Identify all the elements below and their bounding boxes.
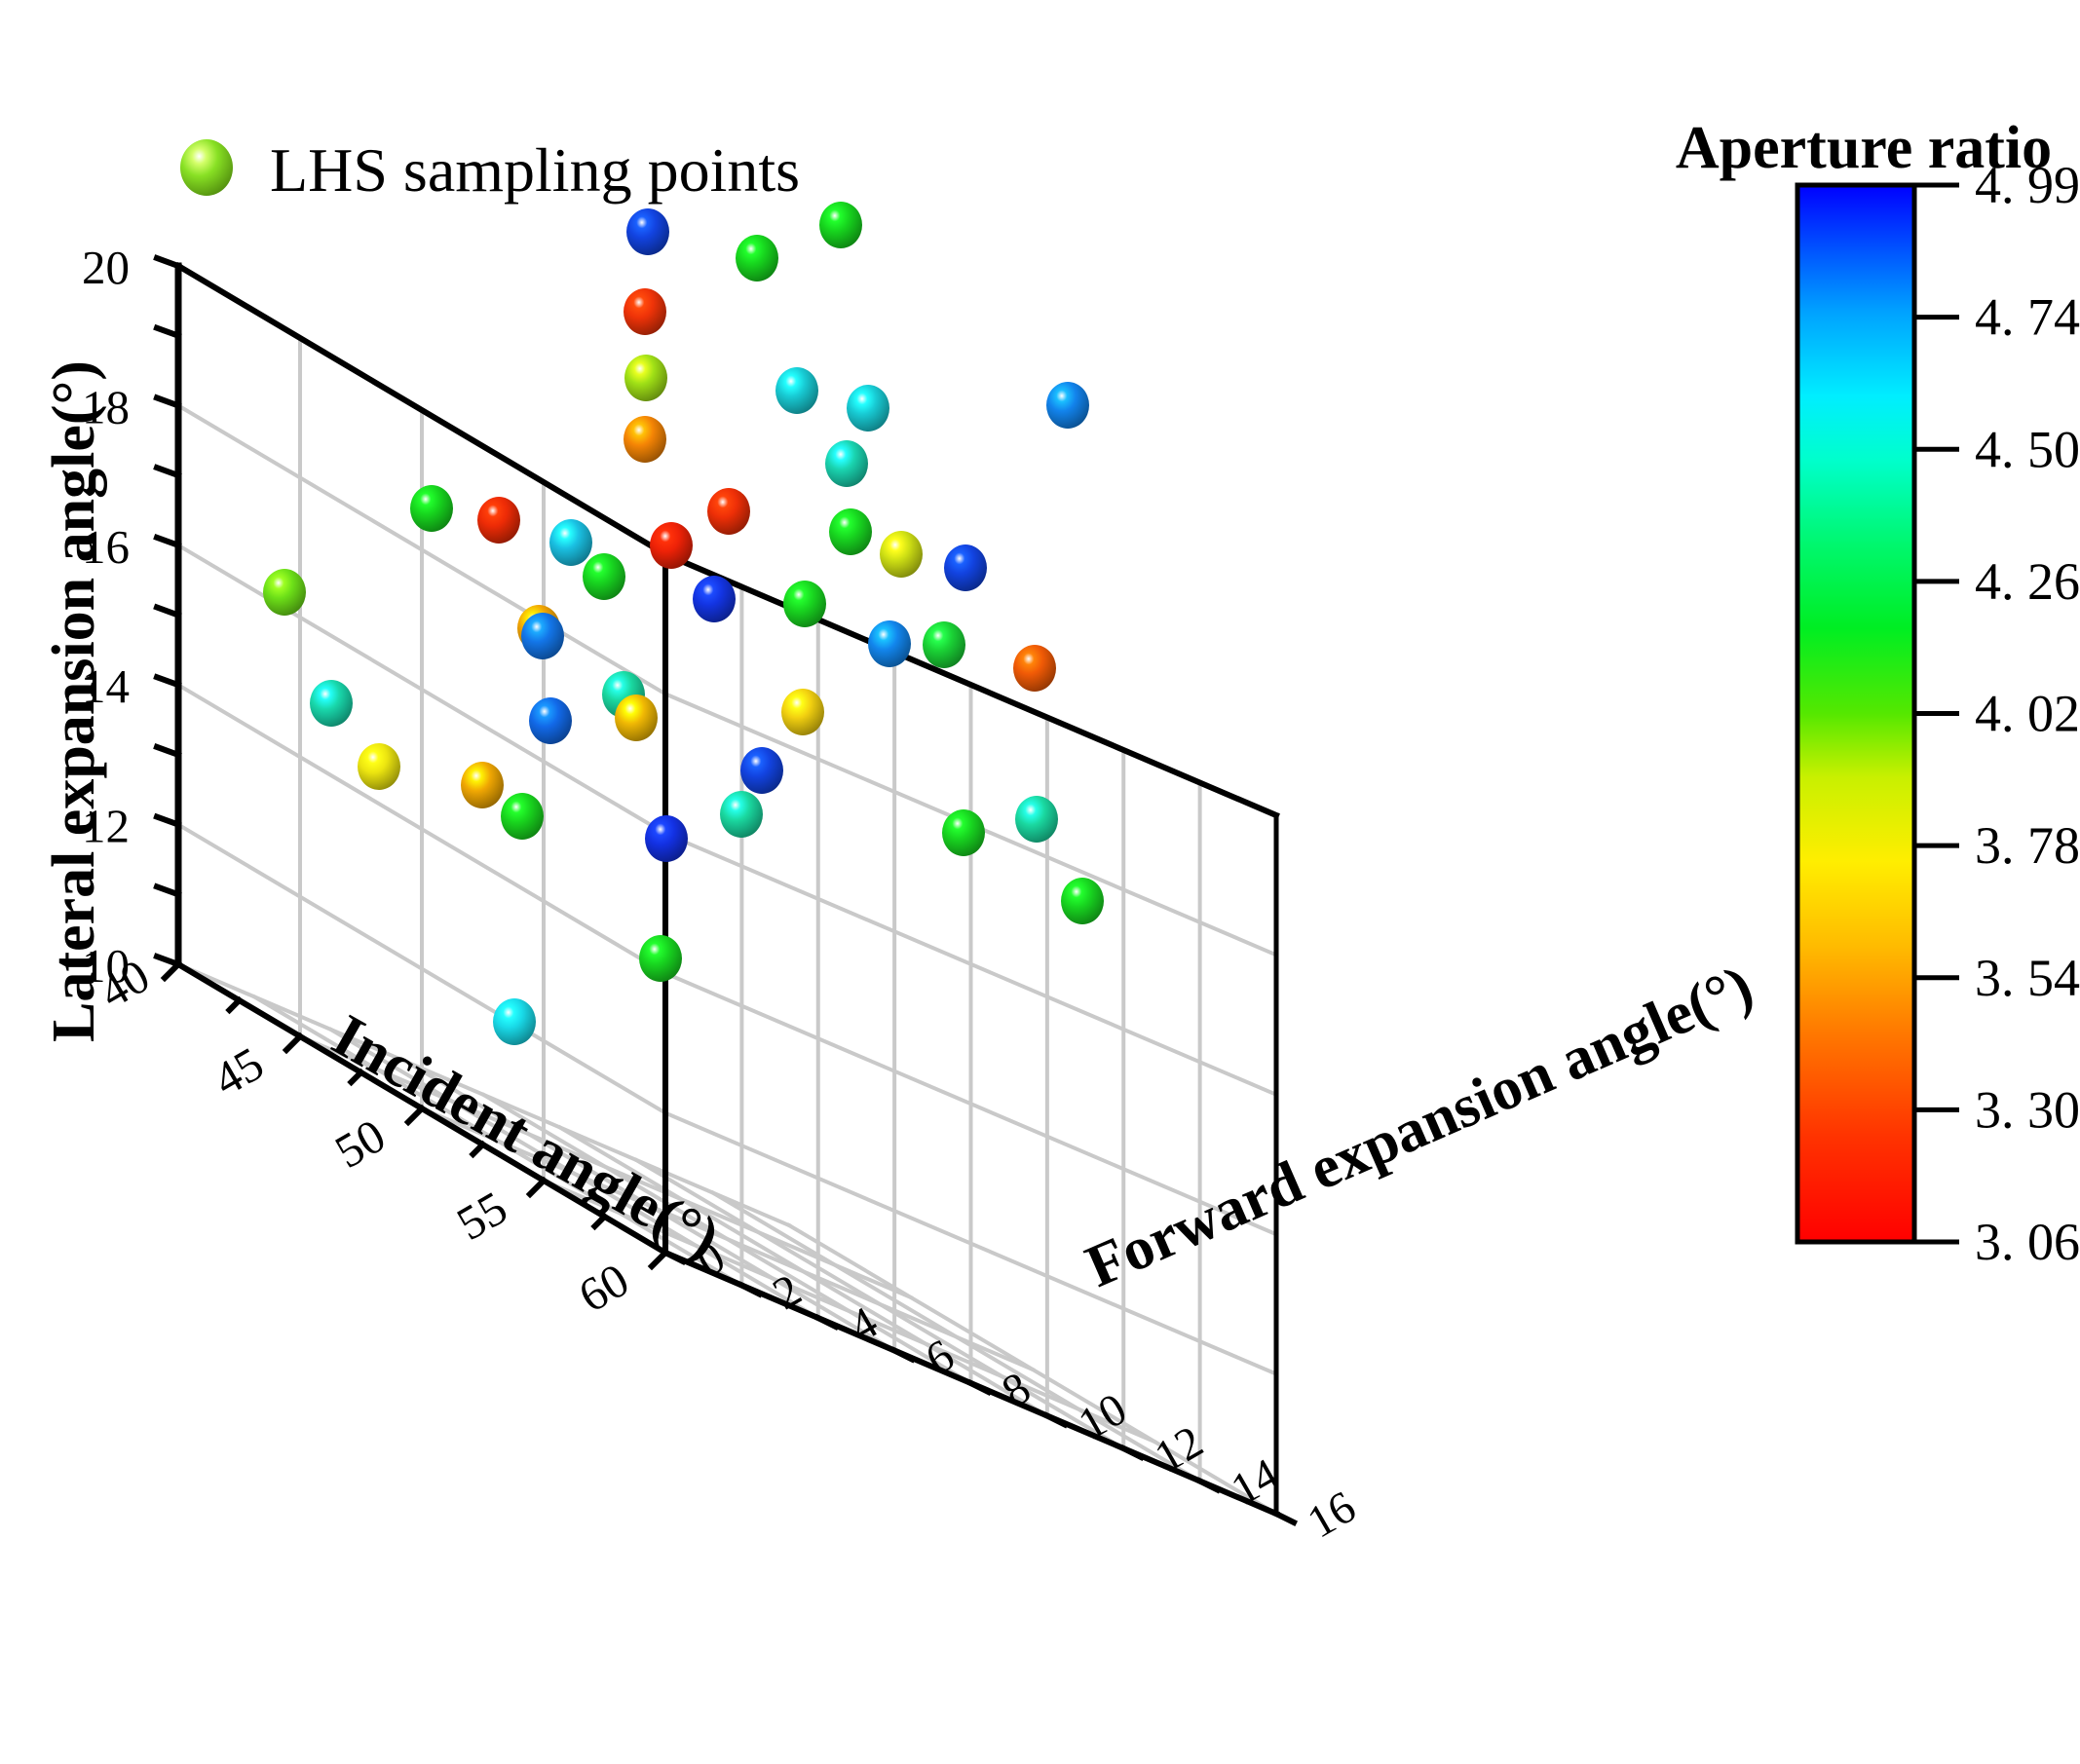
- data-point-sphere: [624, 416, 666, 463]
- scatter3d-figure: 10121416182040455055600246810121416 Late…: [0, 0, 2080, 1764]
- data-point-sphere: [501, 793, 544, 840]
- tick-label-x: 60: [570, 1253, 638, 1323]
- tick-x-minor: [230, 1000, 240, 1010]
- tick-y: [894, 1351, 912, 1360]
- tick-label-x: 50: [326, 1108, 395, 1179]
- colorbar-tick-label: 4. 990: [1975, 156, 2080, 214]
- data-point-sphere: [583, 553, 625, 600]
- data-point-sphere: [707, 488, 750, 535]
- tick-y: [1047, 1416, 1065, 1425]
- data-point-sphere: [358, 743, 400, 790]
- data-point-sphere: [615, 694, 658, 741]
- data-point-sphere: [1015, 796, 1058, 843]
- data-point-sphere: [624, 288, 666, 335]
- figure-root: 10121416182040455055600246810121416 Late…: [0, 0, 2080, 1764]
- data-point-sphere: [781, 689, 824, 735]
- colorbar-tick-label: 3. 301: [1975, 1080, 2080, 1139]
- tick-y: [741, 1286, 759, 1295]
- data-point-sphere: [549, 519, 592, 566]
- data-point-sphere: [1061, 878, 1104, 924]
- data-point-sphere: [645, 815, 688, 862]
- tick-y: [971, 1383, 989, 1392]
- data-point-sphere: [626, 208, 669, 255]
- tick-y: [1276, 1514, 1294, 1522]
- colorbar-gradient: [1797, 185, 1914, 1242]
- data-point-sphere: [461, 762, 504, 808]
- data-point-sphere: [942, 809, 985, 856]
- tick-y: [1200, 1482, 1218, 1490]
- colorbar-tick-label: 3. 060: [1975, 1213, 2080, 1271]
- data-point-sphere: [263, 569, 306, 616]
- tick-y: [818, 1318, 836, 1327]
- axis-frame: [178, 266, 1276, 1514]
- data-point-sphere: [493, 998, 536, 1045]
- data-point-sphere: [310, 680, 353, 727]
- data-point-sphere: [880, 531, 923, 578]
- data-point-sphere: [650, 522, 693, 569]
- colorbar: Aperture ratio4. 9904. 7494. 5084. 2664.…: [1676, 115, 2080, 1271]
- data-point-sphere: [775, 367, 818, 414]
- data-point-sphere: [923, 621, 965, 668]
- data-point-sphere: [740, 747, 783, 794]
- colorbar-tick-label: 4. 749: [1975, 288, 2080, 347]
- data-point-sphere: [868, 620, 911, 667]
- colorbar-tick-label: 4. 266: [1975, 552, 2080, 611]
- axis-title-y: Forward expansion angle(°): [1077, 953, 1762, 1300]
- data-point-sphere: [783, 581, 826, 627]
- data-point-sphere: [944, 544, 987, 591]
- data-point-sphere: [624, 355, 667, 401]
- tick-label-z: 20: [82, 241, 130, 294]
- axis-tick-labels: 10121416182040455055600246810121416: [82, 241, 1364, 1549]
- data-point-sphere: [1046, 382, 1089, 429]
- colorbar-tick-label: 3. 784: [1975, 816, 2080, 875]
- grid-lines: [178, 266, 1276, 1514]
- legend: LHS sampling points: [180, 135, 800, 205]
- data-point-sphere: [521, 613, 564, 659]
- data-points: [263, 202, 1104, 1045]
- data-point-sphere: [819, 202, 862, 248]
- legend-marker-icon: [180, 139, 233, 196]
- data-point-sphere: [477, 497, 520, 544]
- colorbar-tick-label: 3. 543: [1975, 949, 2080, 1007]
- data-point-sphere: [825, 440, 868, 487]
- legend-label: LHS sampling points: [270, 135, 800, 205]
- data-point-sphere: [829, 508, 872, 555]
- tick-label-x: 45: [205, 1036, 273, 1107]
- data-point-sphere: [720, 791, 763, 838]
- tick-y: [1123, 1448, 1141, 1457]
- tick-z: [157, 258, 178, 266]
- data-point-sphere: [736, 235, 778, 281]
- tick-x: [286, 1036, 300, 1050]
- tick-x: [165, 964, 178, 978]
- data-point-sphere: [639, 935, 682, 982]
- colorbar-tick-label: 4. 025: [1975, 685, 2080, 743]
- tick-label-x: 55: [448, 1181, 516, 1251]
- data-point-sphere: [1013, 645, 1056, 692]
- tick-label-y: 16: [1300, 1482, 1365, 1549]
- data-point-sphere: [529, 697, 572, 744]
- colorbar-tick-label: 4. 508: [1975, 420, 2080, 478]
- axis-title-z: Lateral expansion angle(°): [41, 360, 107, 1042]
- data-point-sphere: [847, 385, 889, 432]
- data-point-sphere: [410, 485, 453, 532]
- data-point-sphere: [693, 576, 736, 622]
